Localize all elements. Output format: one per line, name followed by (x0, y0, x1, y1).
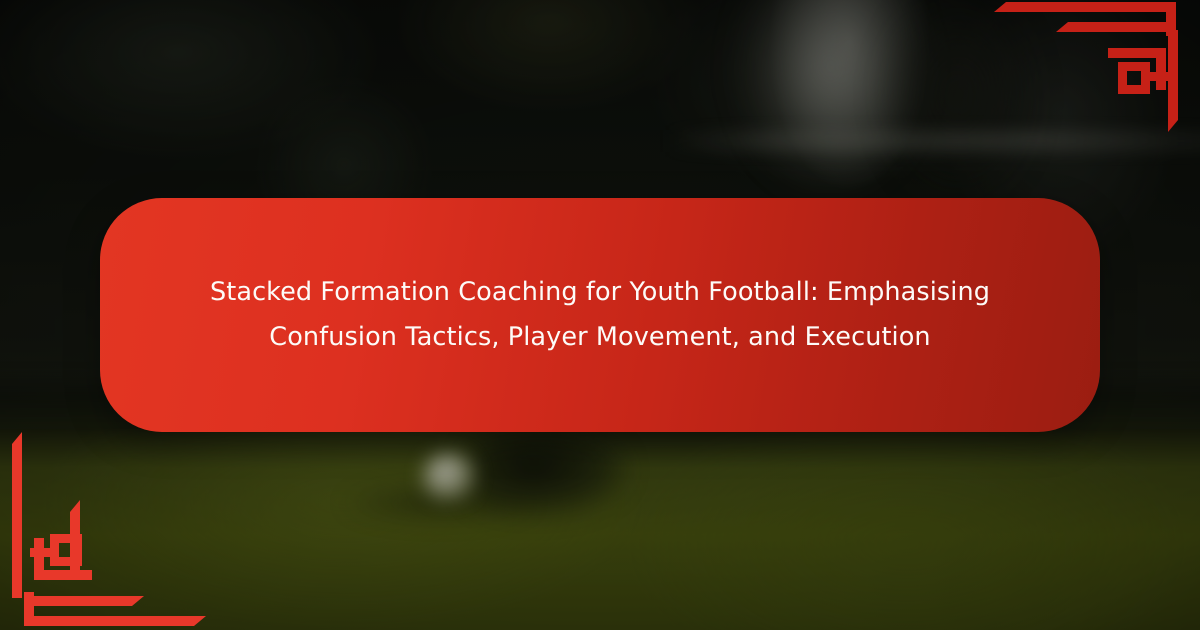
share-card-canvas: Stacked Formation Coaching for Youth Foo… (0, 0, 1200, 630)
page-title: Stacked Formation Coaching for Youth Foo… (190, 270, 1010, 360)
title-card: Stacked Formation Coaching for Youth Foo… (100, 198, 1100, 432)
